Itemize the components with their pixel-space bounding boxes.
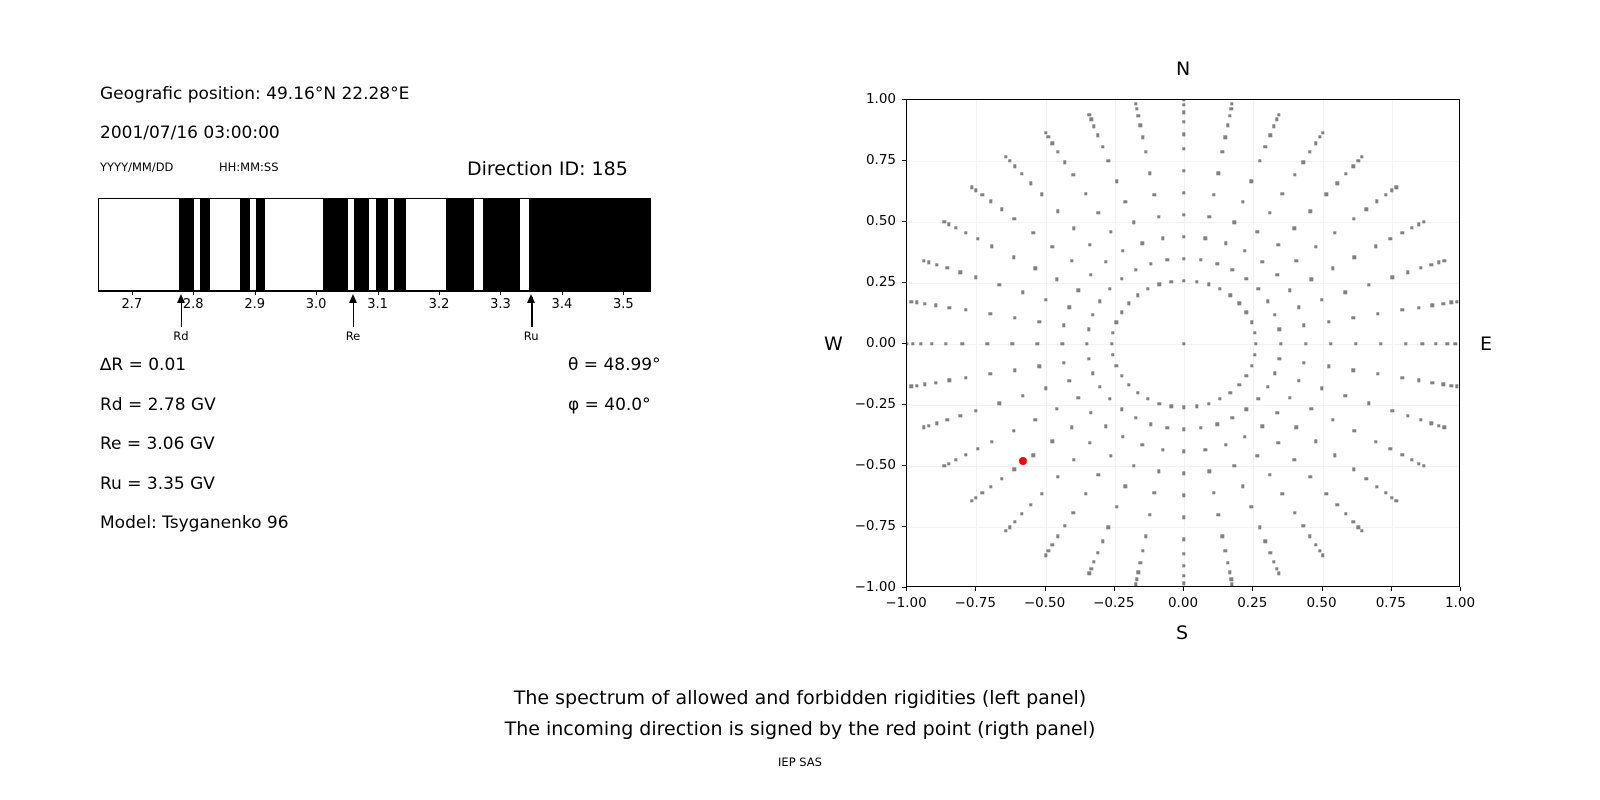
plot-xtick (1183, 587, 1184, 591)
direction-dot (1455, 300, 1458, 303)
direction-dot (1044, 131, 1047, 134)
direction-dot (1431, 381, 1434, 384)
direction-dot (1132, 464, 1135, 467)
direction-dot (1391, 276, 1394, 279)
direction-dot (1389, 237, 1392, 240)
direction-dot (945, 418, 948, 421)
direction-dot (906, 342, 909, 345)
direction-dot (1216, 172, 1219, 175)
date-format-hint: YYYY/MM/DD (100, 160, 173, 174)
direction-dot (1302, 361, 1305, 364)
direction-dot (1207, 402, 1210, 405)
direction-dot (1088, 243, 1091, 246)
direction-dot (1034, 267, 1037, 270)
axis-tick-label: 3.4 (552, 297, 573, 312)
direction-dot (948, 306, 951, 309)
direction-dot (1351, 316, 1354, 319)
direction-dot (1237, 302, 1240, 305)
direction-dot (1096, 551, 1099, 554)
direction-dot (1417, 379, 1420, 382)
direction-dot (1237, 383, 1240, 386)
direction-dot (1195, 280, 1198, 283)
direction-dot (997, 283, 1000, 286)
direction-dot (1170, 280, 1173, 283)
direction-dot (1203, 448, 1206, 451)
direction-dot (1088, 113, 1091, 116)
direction-dot (919, 342, 922, 345)
direction-dot (1089, 567, 1092, 570)
direction-dot (1012, 256, 1015, 259)
direction-dot (1056, 210, 1059, 213)
direction-dot (1384, 193, 1387, 196)
direction-dot (976, 447, 979, 450)
direction-dot (1297, 306, 1300, 309)
direction-dot (1318, 549, 1321, 552)
direction-dot (1390, 496, 1393, 499)
direction-dot (1230, 583, 1233, 586)
direction-dot (1352, 468, 1355, 471)
direction-dot (1320, 298, 1323, 301)
direction-dot (1055, 278, 1058, 281)
direction-dot (989, 312, 992, 315)
axis-tick (439, 291, 440, 295)
direction-dot (1293, 458, 1296, 461)
direction-dot (1344, 394, 1347, 397)
direction-dot (1277, 113, 1280, 116)
direction-dot (1309, 475, 1312, 478)
gridline-horizontal (907, 161, 1459, 162)
direction-dot (1228, 114, 1231, 117)
direction-dot (1404, 342, 1407, 345)
direction-dot (1391, 409, 1394, 412)
direction-dot (1257, 287, 1260, 290)
direction-dot (958, 414, 961, 417)
direction-dot (1148, 172, 1151, 175)
direction-dot (1013, 369, 1016, 372)
direction-dot (1136, 391, 1139, 394)
direction-dot (1275, 118, 1278, 121)
direction-dot (1120, 374, 1123, 377)
direction-dot (1384, 491, 1387, 494)
direction-dot (1115, 364, 1118, 367)
direction-dot (1096, 134, 1099, 137)
direction-dot (948, 379, 951, 382)
plot-xtick-label: −0.25 (1093, 595, 1134, 611)
direction-dot (1182, 110, 1185, 113)
parameter-right-0: θ = 48.99° (568, 355, 661, 375)
direction-dot (1278, 357, 1281, 360)
direction-dot (1410, 226, 1413, 229)
direction-dot (1233, 464, 1236, 467)
direction-dot (1072, 226, 1075, 229)
direction-dot (923, 383, 926, 386)
direction-dot (1321, 131, 1324, 134)
direction-dot (1351, 369, 1354, 372)
direction-dot (1195, 405, 1198, 408)
direction-dot (1229, 107, 1232, 110)
direction-dot (1354, 342, 1357, 345)
axis-tick-label: 2.9 (244, 297, 265, 312)
direction-dot (981, 193, 984, 196)
direction-dot (1157, 215, 1160, 218)
direction-dot (1120, 311, 1123, 314)
direction-dot (1182, 406, 1185, 409)
gridline-horizontal (907, 466, 1459, 467)
direction-dot (1141, 443, 1144, 446)
direction-dot (1013, 468, 1016, 471)
plot-ytick (902, 465, 906, 466)
direction-dot (1004, 529, 1007, 532)
forbidden-band (323, 199, 348, 290)
direction-dot (1293, 511, 1296, 514)
forbidden-band (256, 199, 265, 290)
direction-dot (1352, 217, 1355, 220)
spectrum-plot-area (98, 198, 651, 291)
direction-dot (1115, 180, 1118, 183)
direction-dot (1004, 155, 1007, 158)
axis-tick-label: 2.8 (183, 297, 204, 312)
direction-dot (1182, 103, 1185, 106)
direction-dot (954, 226, 957, 229)
direction-dot (1089, 273, 1092, 276)
gridline-vertical (1392, 100, 1393, 586)
direction-dot (1120, 408, 1123, 411)
direction-dot (1437, 261, 1440, 264)
axis-tick (132, 291, 133, 295)
direction-dot (1182, 537, 1185, 540)
direction-dot (1327, 320, 1330, 323)
compass-east-label: E (1480, 333, 1492, 355)
direction-dot (1406, 414, 1409, 417)
direction-dot (1087, 357, 1090, 360)
direction-dot (1161, 448, 1164, 451)
direction-dot (922, 259, 925, 262)
direction-dot (1288, 396, 1291, 399)
direction-dot (910, 385, 913, 388)
direction-dot (1266, 385, 1269, 388)
direction-dot (1318, 135, 1321, 138)
direction-dot (1277, 441, 1280, 444)
plot-ytick (902, 343, 906, 344)
direction-dot (1374, 440, 1377, 443)
direction-dot (1127, 383, 1130, 386)
direction-dot (1216, 513, 1219, 516)
direction-dot (1288, 289, 1291, 292)
forbidden-band (200, 199, 209, 290)
plot-xtick-label: −1.00 (885, 595, 926, 611)
direction-dot (1443, 426, 1446, 429)
direction-dot (1029, 503, 1032, 506)
direction-dot (1124, 484, 1127, 487)
direction-dot (1072, 458, 1075, 461)
direction-dot (1243, 249, 1246, 252)
forbidden-band (394, 199, 406, 290)
direction-dot (1182, 516, 1185, 519)
direction-dot (1020, 512, 1023, 515)
direction-dot (1269, 551, 1272, 554)
direction-dot (1231, 416, 1234, 419)
direction-dot (942, 464, 945, 467)
direction-dot (1087, 327, 1090, 330)
direction-dot (1459, 342, 1460, 345)
direction-dot (1277, 243, 1280, 246)
direction-dot (1325, 193, 1328, 196)
direction-dot (911, 342, 914, 345)
direction-dot (1008, 525, 1011, 528)
direction-dot (1401, 308, 1404, 311)
direction-dot (1040, 193, 1043, 196)
direction-dot (1182, 132, 1185, 135)
direction-dot (1430, 263, 1433, 266)
direction-dot (1454, 342, 1457, 345)
direction-dot (974, 276, 977, 279)
direction-dot (970, 499, 973, 502)
direction-dot (1158, 283, 1161, 286)
direction-dot (1207, 283, 1210, 286)
direction-dot (986, 342, 989, 345)
forbidden-band (354, 199, 369, 290)
direction-dot (1144, 150, 1147, 153)
direction-dot (1273, 313, 1276, 316)
plot-ytick-label: 0.25 (844, 274, 896, 290)
direction-dot (1297, 379, 1300, 382)
direction-dot (942, 220, 945, 223)
caption-line-1: The spectrum of allowed and forbidden ri… (0, 687, 1600, 709)
direction-dot (1344, 172, 1347, 175)
direction-dot (1272, 124, 1275, 127)
direction-dot (1221, 150, 1224, 153)
direction-dot (1109, 230, 1112, 233)
direction-dot (1365, 477, 1368, 480)
direction-dot (1215, 423, 1218, 426)
datetime-value: 2001/07/16 03:00:00 (100, 123, 280, 143)
direction-dot (1124, 200, 1127, 203)
axis-tick-label: 2.7 (121, 297, 142, 312)
direction-dot (1320, 387, 1323, 390)
direction-dot (1182, 581, 1185, 584)
direction-dot (1199, 426, 1202, 429)
direction-dot (1047, 549, 1050, 552)
plot-ytick (902, 221, 906, 222)
direction-dot (1226, 124, 1229, 127)
direction-dot (1051, 543, 1054, 546)
plot-ytick (902, 526, 906, 527)
direction-dot (1301, 161, 1304, 164)
direction-dot (1375, 200, 1378, 203)
plot-ytick (902, 587, 906, 588)
direction-dot (1314, 543, 1317, 546)
parameter-left-3: Ru = 3.35 GV (100, 474, 215, 494)
direction-dot (1013, 316, 1016, 319)
gridline-horizontal (907, 222, 1459, 223)
direction-dot (1035, 342, 1038, 345)
direction-dot (1021, 291, 1024, 294)
direction-dot (1063, 161, 1066, 164)
direction-dot (1301, 524, 1304, 527)
direction-dot (1293, 173, 1296, 176)
direction-dot (1134, 102, 1137, 105)
direction-dot (961, 342, 964, 345)
direction-dot (1229, 294, 1232, 297)
parameter-left-1: Rd = 2.78 GV (100, 395, 216, 415)
forbidden-band (240, 199, 249, 290)
direction-dot (1055, 407, 1058, 410)
direction-dot (1309, 278, 1312, 281)
gridline-vertical (1115, 100, 1116, 586)
direction-dot (1152, 193, 1155, 196)
direction-dot (1013, 165, 1016, 168)
parameter-left-0: ∆R = 0.01 (100, 355, 186, 375)
direction-dot (1144, 535, 1147, 538)
direction-dot (954, 458, 957, 461)
plot-xtick-label: 0.50 (1306, 595, 1336, 611)
rigidity-marker-label: Re (346, 329, 361, 343)
direction-dot (1152, 491, 1155, 494)
direction-dot (1051, 440, 1054, 443)
direction-dot (1044, 387, 1047, 390)
compass-north-label: N (1176, 58, 1190, 80)
direction-dot (1419, 418, 1422, 421)
direction-dot (1258, 526, 1261, 529)
direction-dot (1070, 259, 1073, 262)
direction-dot (1253, 331, 1256, 334)
direction-dot (970, 185, 973, 188)
direction-dot (1139, 124, 1142, 127)
direction-dot (1441, 383, 1444, 386)
direction-dot (1230, 102, 1233, 105)
direction-dot (1127, 302, 1130, 305)
direction-dot (1182, 191, 1185, 194)
direction-dot (1335, 182, 1338, 185)
direction-dot (1365, 207, 1368, 210)
direction-dot (1327, 365, 1330, 368)
direction-dot (1208, 470, 1211, 473)
direction-dot (981, 491, 984, 494)
direction-dot (1333, 231, 1336, 234)
direction-dot (1245, 408, 1248, 411)
plot-ytick-label: −0.50 (844, 457, 896, 473)
direction-dot (1199, 258, 1202, 261)
compass-west-label: W (824, 333, 843, 355)
right-panel: N S W E −1.00−1.00−0.75−0.75−0.50−0.50−0… (780, 0, 1600, 660)
direction-dot (990, 245, 993, 248)
direction-dot (1020, 172, 1023, 175)
direction-dot (1157, 470, 1160, 473)
direction-dot (1250, 321, 1253, 324)
gridline-vertical (976, 100, 977, 586)
axis-tick-label: 3.3 (490, 297, 511, 312)
plot-ytick-label: −0.75 (844, 518, 896, 534)
direction-dot (1120, 277, 1123, 280)
direction-dot (1182, 564, 1185, 567)
direction-dot (1441, 302, 1444, 305)
direction-dot (1353, 429, 1356, 432)
direction-dot (1062, 361, 1065, 364)
direction-dot (1071, 511, 1074, 514)
direction-dot (1013, 217, 1016, 220)
direction-dot (1212, 491, 1215, 494)
direction-dot (964, 308, 967, 311)
direction-dot (1406, 271, 1409, 274)
direction-dot (1229, 578, 1232, 581)
plot-ytick-label: 0.50 (844, 213, 896, 229)
direction-dot (1229, 391, 1232, 394)
direction-dot (1182, 574, 1185, 577)
direction-dot (1044, 298, 1047, 301)
direction-dot (935, 263, 938, 266)
direction-dot (989, 200, 992, 203)
axis-tick-label: 3.2 (429, 297, 450, 312)
direction-dot (1032, 454, 1035, 457)
direction-dot (1394, 499, 1397, 502)
direction-dot (1295, 425, 1298, 428)
direction-dot (1257, 397, 1260, 400)
direction-dot (1088, 441, 1091, 444)
direction-dot (945, 266, 948, 269)
direction-dot (1253, 353, 1256, 356)
left-panel: Geografic position: 49.16°N 22.28°E 2001… (0, 0, 760, 660)
direction-dot (1421, 342, 1424, 345)
direction-dot (1417, 223, 1420, 226)
axis-tick (623, 291, 624, 295)
direction-dot (1218, 287, 1221, 290)
direction-dot (1376, 372, 1379, 375)
direction-dot (930, 342, 933, 345)
direction-dot (1051, 142, 1054, 145)
direction-dot (1182, 279, 1185, 282)
direction-dot (1293, 226, 1296, 229)
direction-dot (974, 409, 977, 412)
direction-dot (1104, 425, 1107, 428)
direction-dot (1111, 353, 1114, 356)
plot-ytick (902, 404, 906, 405)
axis-tick-label: 3.0 (306, 297, 327, 312)
direction-dot (1089, 411, 1092, 414)
plot-ytick-label: 0.00 (844, 335, 896, 351)
spectrum-x-axis: 2.72.82.93.03.13.23.33.43.5RdReRu (98, 291, 651, 351)
direction-dot (989, 485, 992, 488)
axis-tick (562, 291, 563, 295)
direction-dot (1231, 268, 1234, 271)
direction-dot (1434, 342, 1437, 345)
direction-dot (1269, 134, 1272, 137)
direction-dot (1182, 472, 1185, 475)
plot-xtick-label: 0.00 (1168, 595, 1198, 611)
parameter-right-1: φ = 40.0° (568, 395, 651, 415)
direction-dot (1254, 342, 1257, 345)
direction-dot (1422, 220, 1425, 223)
direction-dot (1161, 237, 1164, 240)
gridline-vertical (1046, 100, 1047, 586)
direction-dot (1132, 221, 1135, 224)
plot-xtick (1322, 587, 1323, 591)
direction-dot (1070, 425, 1073, 428)
direction-dot (1134, 268, 1137, 271)
footer-credit: IEP SAS (0, 755, 1600, 769)
direction-dot (964, 453, 967, 456)
direction-dot (1224, 241, 1227, 244)
direction-dot (915, 301, 918, 304)
direction-dot (1224, 136, 1227, 139)
direction-dot (1056, 150, 1059, 153)
direction-dot (1410, 458, 1413, 461)
plot-xtick (1114, 587, 1115, 591)
direction-dot (1092, 560, 1095, 563)
direction-dot (1182, 552, 1185, 555)
direction-dot (1268, 473, 1271, 476)
direction-dot (1357, 159, 1360, 162)
direction-dot (1450, 301, 1453, 304)
